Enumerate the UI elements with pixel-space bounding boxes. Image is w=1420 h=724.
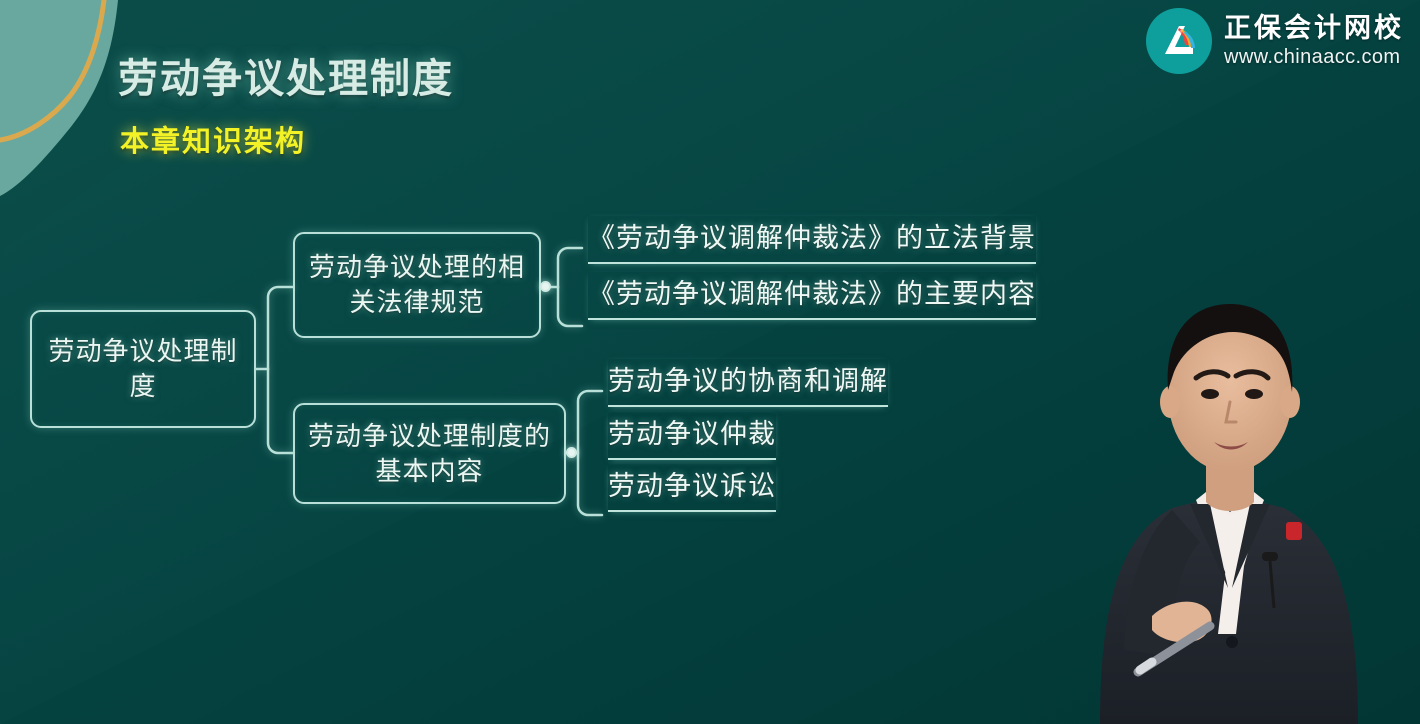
chinaacc-book-logo-icon: [1146, 8, 1212, 74]
mindmap-leaf-item[interactable]: 《劳动争议调解仲裁法》的主要内容: [588, 272, 1036, 320]
mindmap-leaf-item[interactable]: 《劳动争议调解仲裁法》的立法背景: [588, 216, 1036, 264]
mindmap-branch-node-2[interactable]: 劳动争议处理制度的基本内容: [293, 403, 566, 504]
mindmap-root-node[interactable]: 劳动争议处理制度: [30, 310, 256, 428]
mindmap-leaf-item[interactable]: 劳动争议的协商和调解: [608, 359, 888, 407]
connector-dot-branch-2: [566, 447, 577, 458]
presenter-video-overlay: [1040, 164, 1420, 724]
brand-url: www.chinaacc.com: [1224, 45, 1404, 69]
mindmap-leaf-item[interactable]: 劳动争议仲裁: [608, 412, 776, 460]
slide-stage: 劳动争议处理制度 本章知识架构 正保会计网校 www.chinaacc.com: [0, 0, 1420, 724]
mindmap-leaf-item[interactable]: 劳动争议诉讼: [608, 464, 776, 512]
brand-name: 正保会计网校: [1224, 13, 1404, 44]
mindmap-branch-node-1[interactable]: 劳动争议处理的相关法律规范: [293, 232, 541, 338]
connector-dot-branch-1: [540, 281, 551, 292]
mindmap: 劳动争议处理制度 劳动争议处理的相关法律规范 劳动争议处理制度的基本内容 《劳动…: [0, 0, 1080, 724]
brand-logo: 正保会计网校 www.chinaacc.com: [1146, 8, 1404, 74]
